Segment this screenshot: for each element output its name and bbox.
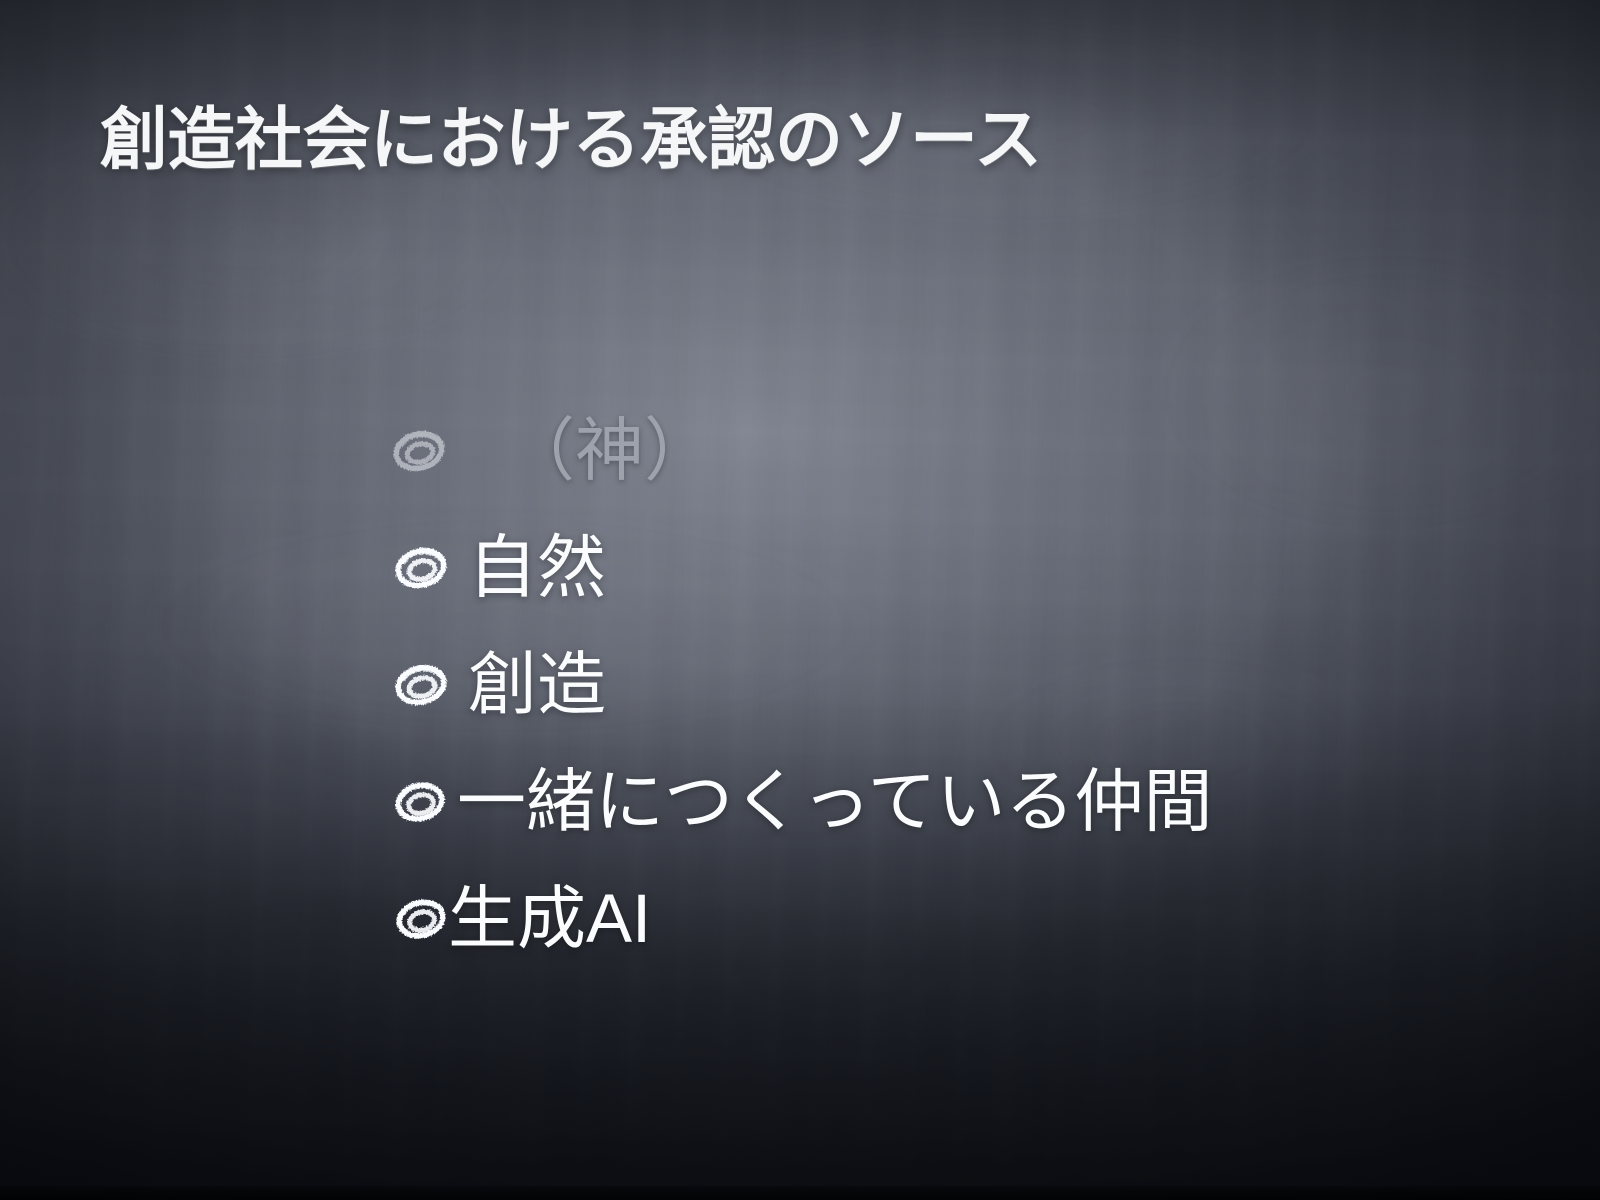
bullet-label: 創造 — [468, 650, 606, 719]
bullet-item-collaborators: 一緒につくっている仲間 — [0, 743, 1600, 860]
bullet-list: （神） — [0, 392, 1600, 977]
bullet-item-creation: 創造 — [0, 626, 1600, 743]
bullet-label: （神） — [506, 416, 713, 485]
chalk-swirl-bullet-icon — [388, 420, 450, 482]
bullet-item-nature: 自然 — [0, 509, 1600, 626]
bullet-item-god: （神） — [0, 392, 1600, 509]
chalk-swirl-bullet-icon — [389, 771, 451, 833]
chalk-swirl-bullet-icon — [390, 537, 452, 599]
bullet-item-generative-ai: 生成AI — [0, 860, 1600, 977]
chalk-swirl-bullet-icon — [390, 888, 452, 950]
presentation-slide: 創造社会における承認のソース — [0, 0, 1600, 1200]
bullet-label: 生成AI — [448, 884, 651, 953]
bullet-label: 自然 — [468, 533, 606, 602]
bullet-label: 一緒につくっている仲間 — [457, 767, 1213, 836]
chalk-swirl-bullet-icon — [390, 654, 452, 716]
slide-title: 創造社会における承認のソース — [100, 104, 1042, 176]
slide-content: 創造社会における承認のソース — [0, 0, 1600, 1200]
